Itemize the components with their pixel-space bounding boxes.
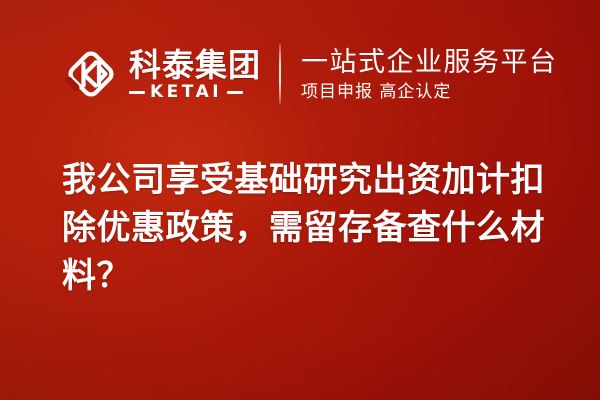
wordmark-rule-left-icon: [129, 91, 145, 94]
brand-name-en: KETAI: [150, 84, 222, 101]
wordmark-rule-right-icon: [227, 91, 243, 94]
header-vertical-divider: [279, 44, 281, 104]
headline-line: 除优惠政策，需留存备查什么材: [62, 204, 554, 252]
headline-line: 我公司享受基础研究出资加计扣: [62, 156, 554, 204]
brand-name-cn: 科泰集团: [129, 48, 261, 82]
brand-wordmark: 科泰集团 KETAI: [129, 43, 261, 105]
ketai-diamond-kt-monogram-icon: [62, 44, 120, 104]
tagline-secondary: 项目申报 高企认定: [301, 82, 558, 103]
banner-header: 科泰集团 KETAI 一站式企业服务平台 项目申报 高企认定: [62, 42, 558, 106]
headline-line: 料？: [62, 252, 554, 300]
tagline-block: 一站式企业服务平台 项目申报 高企认定: [301, 42, 558, 106]
headline: 我公司享受基础研究出资加计扣 除优惠政策，需留存备查什么材 料？: [62, 156, 554, 300]
tagline-primary: 一站式企业服务平台: [301, 46, 558, 79]
brand-name-en-row: KETAI: [129, 84, 261, 101]
brand-logo[interactable]: 科泰集团 KETAI: [62, 42, 261, 106]
promo-banner: 科泰集团 KETAI 一站式企业服务平台 项目申报 高企认定 我公司享受基础研究…: [0, 0, 600, 400]
